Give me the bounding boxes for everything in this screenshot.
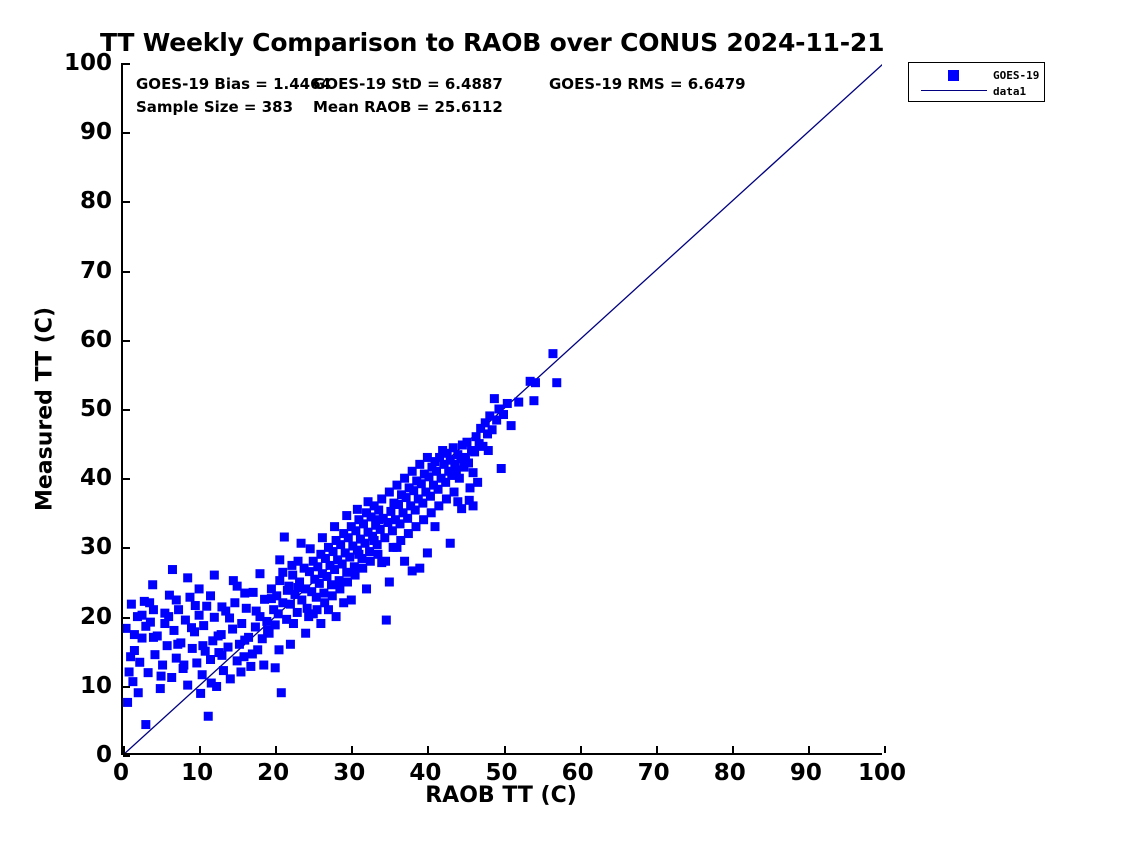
y-tick-label: 80 [80, 188, 112, 214]
scatter-point [280, 533, 289, 542]
scatter-point [204, 712, 213, 721]
y-tick [123, 755, 130, 757]
scatter-point [370, 536, 379, 545]
scatter-point [236, 667, 245, 676]
scatter-point [499, 410, 508, 419]
x-tick-label: 70 [638, 760, 670, 786]
y-tick [123, 409, 130, 411]
scatter-point [195, 611, 204, 620]
scatter-point [275, 645, 284, 654]
y-tick [123, 686, 130, 688]
scatter-point [174, 605, 183, 614]
scatter-point [228, 625, 237, 634]
legend-marker-goes19-icon [948, 70, 959, 81]
scatter-point [168, 565, 177, 574]
scatter-point [403, 514, 412, 523]
annotation-bias: GOES-19 Bias = 1.4464 [136, 75, 331, 93]
scatter-point [529, 396, 538, 405]
scatter-point [127, 600, 136, 609]
scatter-point [531, 378, 540, 387]
scatter-point [144, 668, 153, 677]
scatter-point [293, 608, 302, 617]
x-tick [808, 746, 810, 753]
x-tick [351, 746, 353, 753]
scatter-point [297, 539, 306, 548]
x-tick-label: 0 [113, 760, 129, 786]
scatter-point [488, 425, 497, 434]
x-tick [580, 746, 582, 753]
scatter-point [126, 652, 135, 661]
y-tick-label: 40 [80, 465, 112, 491]
scatter-point [400, 557, 409, 566]
scatter-point [350, 562, 359, 571]
scatter-point [157, 672, 166, 681]
y-tick-label: 70 [80, 258, 112, 284]
scatter-point [210, 613, 219, 622]
y-tick-label: 20 [80, 604, 112, 630]
scatter-point [353, 505, 362, 514]
scatter-point [188, 644, 197, 653]
scatter-point [163, 641, 172, 650]
scatter-point [455, 474, 464, 483]
scatter-point [156, 684, 165, 693]
scatter-point [210, 571, 219, 580]
x-tick-label: 10 [181, 760, 213, 786]
scatter-point [248, 649, 257, 658]
x-tick-label: 20 [257, 760, 289, 786]
scatter-point [217, 651, 226, 660]
legend-line-data1-icon [921, 90, 987, 91]
scatter-point [446, 539, 455, 548]
scatter-point [392, 543, 401, 552]
scatter-point [503, 399, 512, 408]
scatter-point [287, 561, 296, 570]
scatter-point [514, 398, 523, 407]
scatter-point [271, 663, 280, 672]
x-tick [199, 746, 201, 753]
scatter-point [473, 478, 482, 487]
y-tick [123, 271, 130, 273]
scatter-point [319, 589, 328, 598]
legend-label-goes19: GOES-19 [993, 69, 1039, 82]
scatter-point [160, 619, 169, 628]
y-tick [123, 63, 130, 65]
x-tick-label: 100 [858, 760, 906, 786]
scatter-point [464, 458, 473, 467]
scatter-point [364, 497, 373, 506]
scatter-point [377, 558, 386, 567]
scatter-point [192, 658, 201, 667]
scatter-point [125, 667, 134, 676]
scatter-point [196, 689, 205, 698]
scatter-point [179, 661, 188, 670]
scatter-point [263, 626, 272, 635]
scatter-point [219, 666, 228, 675]
plot-inner [123, 63, 882, 753]
scatter-point [497, 464, 506, 473]
scatter-point [275, 555, 284, 564]
scatter-point [490, 394, 499, 403]
scatter-point [226, 674, 235, 683]
figure-canvas: TT Weekly Comparison to RAOB over CONUS … [0, 0, 1135, 851]
scatter-point [275, 576, 284, 585]
scatter-point [149, 605, 158, 614]
scatter-point [225, 613, 234, 622]
scatter-point [382, 616, 391, 625]
scatter-point [172, 595, 181, 604]
scatter-point [134, 688, 143, 697]
scatter-point [206, 655, 215, 664]
x-tick [275, 746, 277, 753]
scatter-point [462, 438, 471, 447]
scatter-point [191, 601, 200, 610]
scatter-point [138, 611, 147, 620]
scatter-point [286, 600, 295, 609]
y-tick [123, 547, 130, 549]
scatter-point [274, 609, 283, 618]
y-tick [123, 617, 130, 619]
scatter-point [237, 619, 246, 628]
scatter-point [262, 617, 271, 626]
scatter-point [217, 602, 226, 611]
scatter-point [185, 593, 194, 602]
x-tick [732, 746, 734, 753]
y-tick-label: 50 [80, 396, 112, 422]
scatter-point [141, 720, 150, 729]
x-tick [884, 746, 886, 753]
scatter-point [415, 564, 424, 573]
y-tick-label: 0 [96, 742, 112, 768]
scatter-point [148, 580, 157, 589]
scatter-point [224, 643, 233, 652]
scatter-point [318, 533, 327, 542]
scatter-data-layer [123, 63, 882, 753]
scatter-point [207, 679, 216, 688]
scatter-point [123, 698, 132, 707]
scatter-point [374, 506, 383, 515]
scatter-point [385, 578, 394, 587]
x-tick-label: 80 [714, 760, 746, 786]
scatter-point [249, 588, 258, 597]
x-tick [504, 746, 506, 753]
scatter-point [149, 633, 158, 642]
y-tick-label: 100 [64, 50, 112, 76]
scatter-point [230, 598, 239, 607]
scatter-point [450, 488, 459, 497]
scatter-point [198, 670, 207, 679]
scatter-point [239, 652, 248, 661]
scatter-point [173, 640, 182, 649]
scatter-point [301, 629, 310, 638]
scatter-point [330, 522, 339, 531]
scatter-point [214, 631, 223, 640]
x-tick [427, 746, 429, 753]
scatter-point [469, 468, 478, 477]
scatter-point [548, 349, 557, 358]
scatter-point [233, 582, 242, 591]
scatter-point [183, 681, 192, 690]
scatter-point [332, 612, 341, 621]
x-axis-label: RAOB TT (C) [425, 783, 577, 808]
plot-area[interactable] [121, 63, 882, 755]
scatter-point [342, 511, 351, 520]
annotation-rms: GOES-19 RMS = 6.6479 [549, 75, 746, 93]
y-tick-label: 90 [80, 119, 112, 145]
scatter-point [251, 622, 260, 631]
scatter-point [507, 421, 516, 430]
scatter-point [277, 688, 286, 697]
y-tick-label: 10 [80, 673, 112, 699]
scatter-point [431, 522, 440, 531]
annotation-mean-raob: Mean RAOB = 25.6112 [313, 98, 503, 116]
y-tick [123, 478, 130, 480]
scatter-point [183, 573, 192, 582]
scatter-point [423, 548, 432, 557]
scatter-point [306, 544, 315, 553]
y-tick [123, 201, 130, 203]
x-tick-label: 90 [790, 760, 822, 786]
x-tick [656, 746, 658, 753]
scatter-point [309, 609, 318, 618]
scatter-point [294, 583, 303, 592]
chart-title: TT Weekly Comparison to RAOB over CONUS … [100, 28, 884, 57]
legend-label-data1: data1 [993, 85, 1026, 98]
scatter-point [187, 623, 196, 632]
scatter-point [470, 447, 479, 456]
scatter-point [278, 568, 287, 577]
scatter-point [130, 630, 139, 639]
scatter-point [286, 640, 295, 649]
scatter-point [347, 595, 356, 604]
scatter-point [469, 501, 478, 510]
annotation-std: GOES-19 StD = 6.4887 [313, 75, 503, 93]
scatter-point [242, 604, 251, 613]
scatter-point [252, 607, 261, 616]
scatter-point [195, 584, 204, 593]
y-tick-label: 60 [80, 327, 112, 353]
y-tick [123, 132, 130, 134]
scatter-point [453, 497, 462, 506]
scatter-point [283, 586, 292, 595]
scatter-point [267, 594, 276, 603]
scatter-point [158, 661, 167, 670]
scatter-point [255, 569, 264, 578]
scatter-point [135, 658, 144, 667]
legend[interactable]: GOES-19 data1 [908, 62, 1045, 102]
y-tick-label: 30 [80, 534, 112, 560]
annotation-sample-size: Sample Size = 383 [136, 98, 293, 116]
scatter-point [246, 662, 255, 671]
scatter-point [128, 677, 137, 686]
scatter-point [199, 621, 208, 630]
y-tick [123, 340, 130, 342]
scatter-point [374, 515, 383, 524]
scatter-point [150, 650, 159, 659]
scatter-point [552, 378, 561, 387]
scatter-point [198, 641, 207, 650]
scatter-point [354, 550, 363, 559]
scatter-point [316, 619, 325, 628]
scatter-point [202, 602, 211, 611]
scatter-point [289, 619, 298, 628]
x-tick [123, 746, 125, 753]
scatter-point [362, 584, 371, 593]
scatter-point [167, 673, 176, 682]
y-axis-label: Measured TT (C) [33, 307, 58, 511]
scatter-point [297, 595, 306, 604]
scatter-point [141, 622, 150, 631]
scatter-point [335, 576, 344, 585]
scatter-point [169, 626, 178, 635]
x-tick-label: 30 [333, 760, 365, 786]
scatter-point [484, 446, 493, 455]
scatter-point [123, 624, 131, 633]
scatter-point [206, 591, 215, 600]
scatter-point [240, 636, 249, 645]
scatter-point [259, 661, 268, 670]
